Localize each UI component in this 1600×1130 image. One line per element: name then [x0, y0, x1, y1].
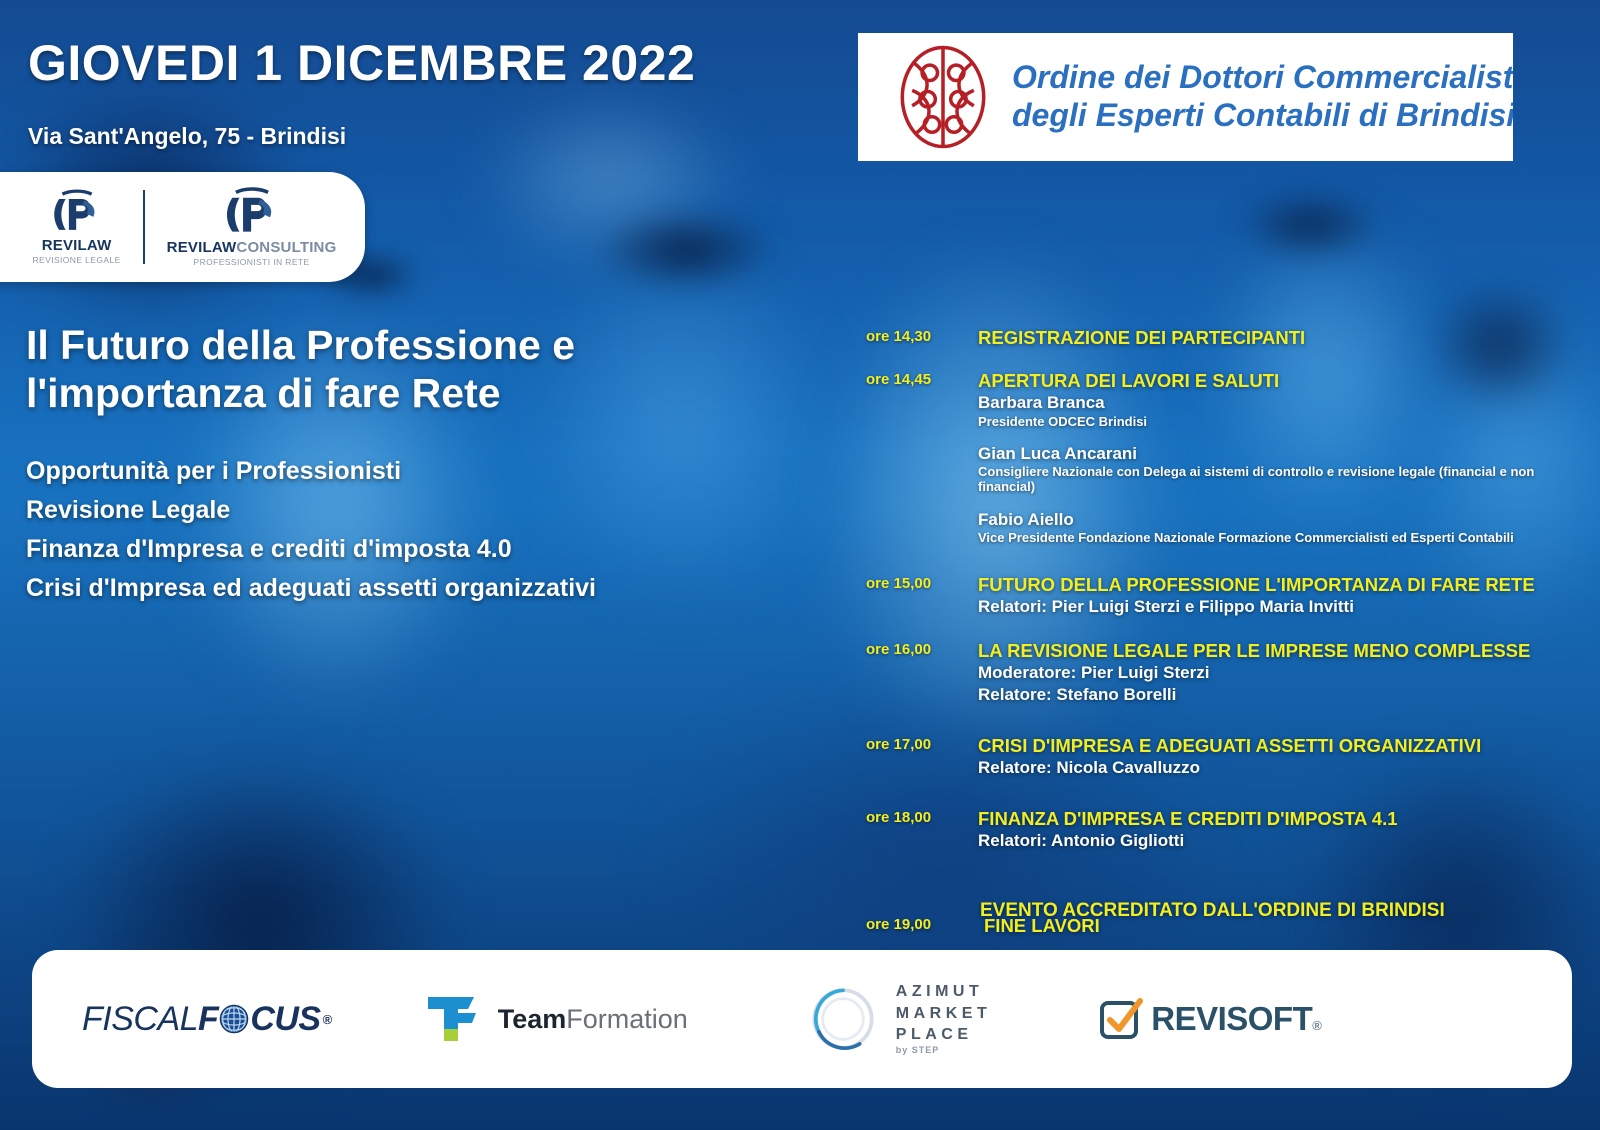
teamformation-tf-mark-icon	[424, 993, 484, 1045]
agenda-speaker-line: Relatori: Pier Luigi Sterzi e Filippo Ma…	[978, 596, 1566, 618]
sponsor-fiscal-focus: FISCALF CUS®	[82, 1000, 332, 1039]
revilaw-consulting-name: REVILAWCONSULTING	[167, 239, 337, 256]
odcec-knot-icon	[888, 41, 998, 153]
azimut-ring-icon	[806, 982, 880, 1056]
agenda-item: ore 14,30 REGISTRAZIONE DEI PARTECIPANTI	[866, 326, 1566, 349]
revilaw-tagline: REVISIONE LEGALE	[33, 255, 121, 265]
agenda-title: REGISTRAZIONE DEI PARTECIPANTI	[978, 326, 1566, 349]
poster-headline: Il Futuro della Professione e l'importan…	[26, 322, 726, 418]
agenda-person: Gian Luca Ancarani Consigliere Nazionale…	[978, 443, 1566, 495]
agenda-person-role: Vice Presidente Fondazione Nazionale For…	[978, 530, 1566, 545]
teamformation-name-light: Formation	[566, 1004, 688, 1034]
odcec-logo-band: Ordine dei Dottori Commercialisti e degl…	[858, 33, 1513, 161]
revilaw-consulting-tagline: PROFESSIONISTI IN RETE	[194, 257, 310, 267]
agenda-title: LA REVISIONE LEGALE PER LE IMPRESE MENO …	[978, 639, 1566, 662]
revilaw-name: REVILAW	[42, 237, 112, 254]
revilaw-logo: REVILAW REVISIONE LEGALE	[33, 189, 121, 265]
agenda-item: ore 15,00 FUTURO DELLA PROFESSIONE L'IMP…	[866, 573, 1566, 618]
odcec-line-2: degli Esperti Contabili di Brindisi	[1012, 97, 1513, 135]
azimut-line-1: AZIMUT	[896, 981, 991, 1002]
revisoft-check-icon	[1099, 998, 1143, 1040]
agenda-time: ore 15,00	[866, 573, 978, 592]
agenda-person: Fabio Aiello Vice Presidente Fondazione …	[978, 509, 1566, 546]
topic-item: Revisione Legale	[26, 491, 746, 530]
agenda-item: ore 17,00 CRISI D'IMPRESA E ADEGUATI ASS…	[866, 734, 1566, 779]
topic-item: Crisi d'Impresa ed adeguati assetti orga…	[26, 569, 746, 608]
agenda-title: APERTURA DEI LAVORI E SALUTI	[978, 369, 1566, 392]
agenda-title: FINANZA D'IMPRESA E CREDITI D'IMPOSTA 4.…	[978, 807, 1566, 830]
sponsor-footer-card: FISCALF CUS®	[32, 950, 1572, 1088]
agenda-time: ore 17,00	[866, 734, 978, 753]
logo-divider	[143, 190, 145, 264]
agenda-time: ore 19,00	[866, 914, 978, 933]
agenda-time: ore 16,00	[866, 639, 978, 658]
agenda-person-name: Gian Luca Ancarani	[978, 443, 1566, 464]
topic-list: Opportunità per i Professionisti Revisio…	[26, 452, 746, 608]
accreditation-note: EVENTO ACCREDITATO DALL'ORDINE DI BRINDI…	[980, 900, 1445, 922]
revilaw-r-mark-icon	[51, 189, 103, 235]
fiscalfocus-registered-mark: ®	[323, 1012, 332, 1027]
azimut-line-3: PLACE	[896, 1024, 991, 1045]
azimut-byline: by STEP	[896, 1045, 991, 1057]
agenda-item: ore 16,00 LA REVISIONE LEGALE PER LE IMP…	[866, 639, 1566, 706]
revisoft-name: REVISOFT	[1151, 1000, 1312, 1037]
topic-item: Opportunità per i Professionisti	[26, 452, 746, 491]
odcec-line-1: Ordine dei Dottori Commercialisti e	[1012, 59, 1513, 97]
event-date: GIOVEDI 1 DICEMBRE 2022	[28, 34, 695, 92]
azimut-line-2: MARKET	[896, 1003, 991, 1024]
revilaw-consulting-r-mark-icon	[223, 187, 281, 237]
event-venue: Via Sant'Angelo, 75 - Brindisi	[28, 123, 346, 150]
agenda-title: FUTURO DELLA PROFESSIONE L'IMPORTANZA DI…	[978, 573, 1566, 596]
fiscalfocus-word-2a: F	[198, 1000, 218, 1039]
agenda-item: ore 18,00 FINANZA D'IMPRESA E CREDITI D'…	[866, 807, 1566, 852]
agenda-person-name: Fabio Aiello	[978, 509, 1566, 530]
revilaw-consulting-logo: REVILAWCONSULTING PROFESSIONISTI IN RETE	[167, 187, 337, 267]
agenda-person-role: Consigliere Nazionale con Delega ai sist…	[978, 464, 1566, 495]
agenda-speaker-line: Moderatore: Pier Luigi Sterzi	[978, 662, 1566, 684]
fiscalfocus-word-1: FISCAL	[82, 1000, 198, 1039]
sponsor-team-formation: TeamFormation	[424, 993, 688, 1045]
revilaw-consulting-name-bold: REVILAW	[167, 239, 237, 256]
fiscalfocus-word-2b: CUS	[250, 1000, 320, 1039]
revisoft-registered-mark: ®	[1312, 1018, 1321, 1033]
teamformation-name-bold: Team	[498, 1004, 567, 1034]
agenda-item: ore 14,45 APERTURA DEI LAVORI E SALUTI B…	[866, 369, 1566, 545]
odcec-logo-text: Ordine dei Dottori Commercialisti e degl…	[1012, 59, 1513, 135]
organizer-logo-card: REVILAW REVISIONE LEGALE REVILAWCONSULTI…	[0, 172, 365, 282]
agenda-person: Barbara Branca Presidente ODCEC Brindisi	[978, 392, 1566, 429]
agenda-schedule: ore 14,30 REGISTRAZIONE DEI PARTECIPANTI…	[866, 326, 1566, 937]
headline-line-1: Il Futuro della Professione e	[26, 322, 726, 370]
agenda-time: ore 18,00	[866, 807, 978, 826]
agenda-person-name: Barbara Branca	[978, 392, 1566, 413]
agenda-time: ore 14,30	[866, 326, 978, 345]
headline-line-2: l'importanza di fare Rete	[26, 370, 726, 418]
agenda-speaker-line: Relatori: Antonio Gigliotti	[978, 830, 1566, 852]
agenda-title: CRISI D'IMPRESA E ADEGUATI ASSETTI ORGAN…	[978, 734, 1566, 757]
globe-icon	[219, 1004, 249, 1034]
topic-item: Finanza d'Impresa e crediti d'imposta 4.…	[26, 530, 746, 569]
agenda-speaker-line: Relatore: Nicola Cavalluzzo	[978, 757, 1566, 779]
event-poster: GIOVEDI 1 DICEMBRE 2022 Via Sant'Angelo,…	[0, 0, 1600, 1130]
agenda-person-role: Presidente ODCEC Brindisi	[978, 414, 1566, 429]
sponsor-revisoft: REVISOFT®	[1099, 998, 1321, 1040]
agenda-speaker-line: Relatore: Stefano Borelli	[978, 684, 1566, 706]
sponsor-azimut-market-place: AZIMUT MARKET PLACE by STEP	[806, 981, 991, 1056]
agenda-time: ore 14,45	[866, 369, 978, 388]
revilaw-consulting-name-light: CONSULTING	[236, 239, 336, 256]
